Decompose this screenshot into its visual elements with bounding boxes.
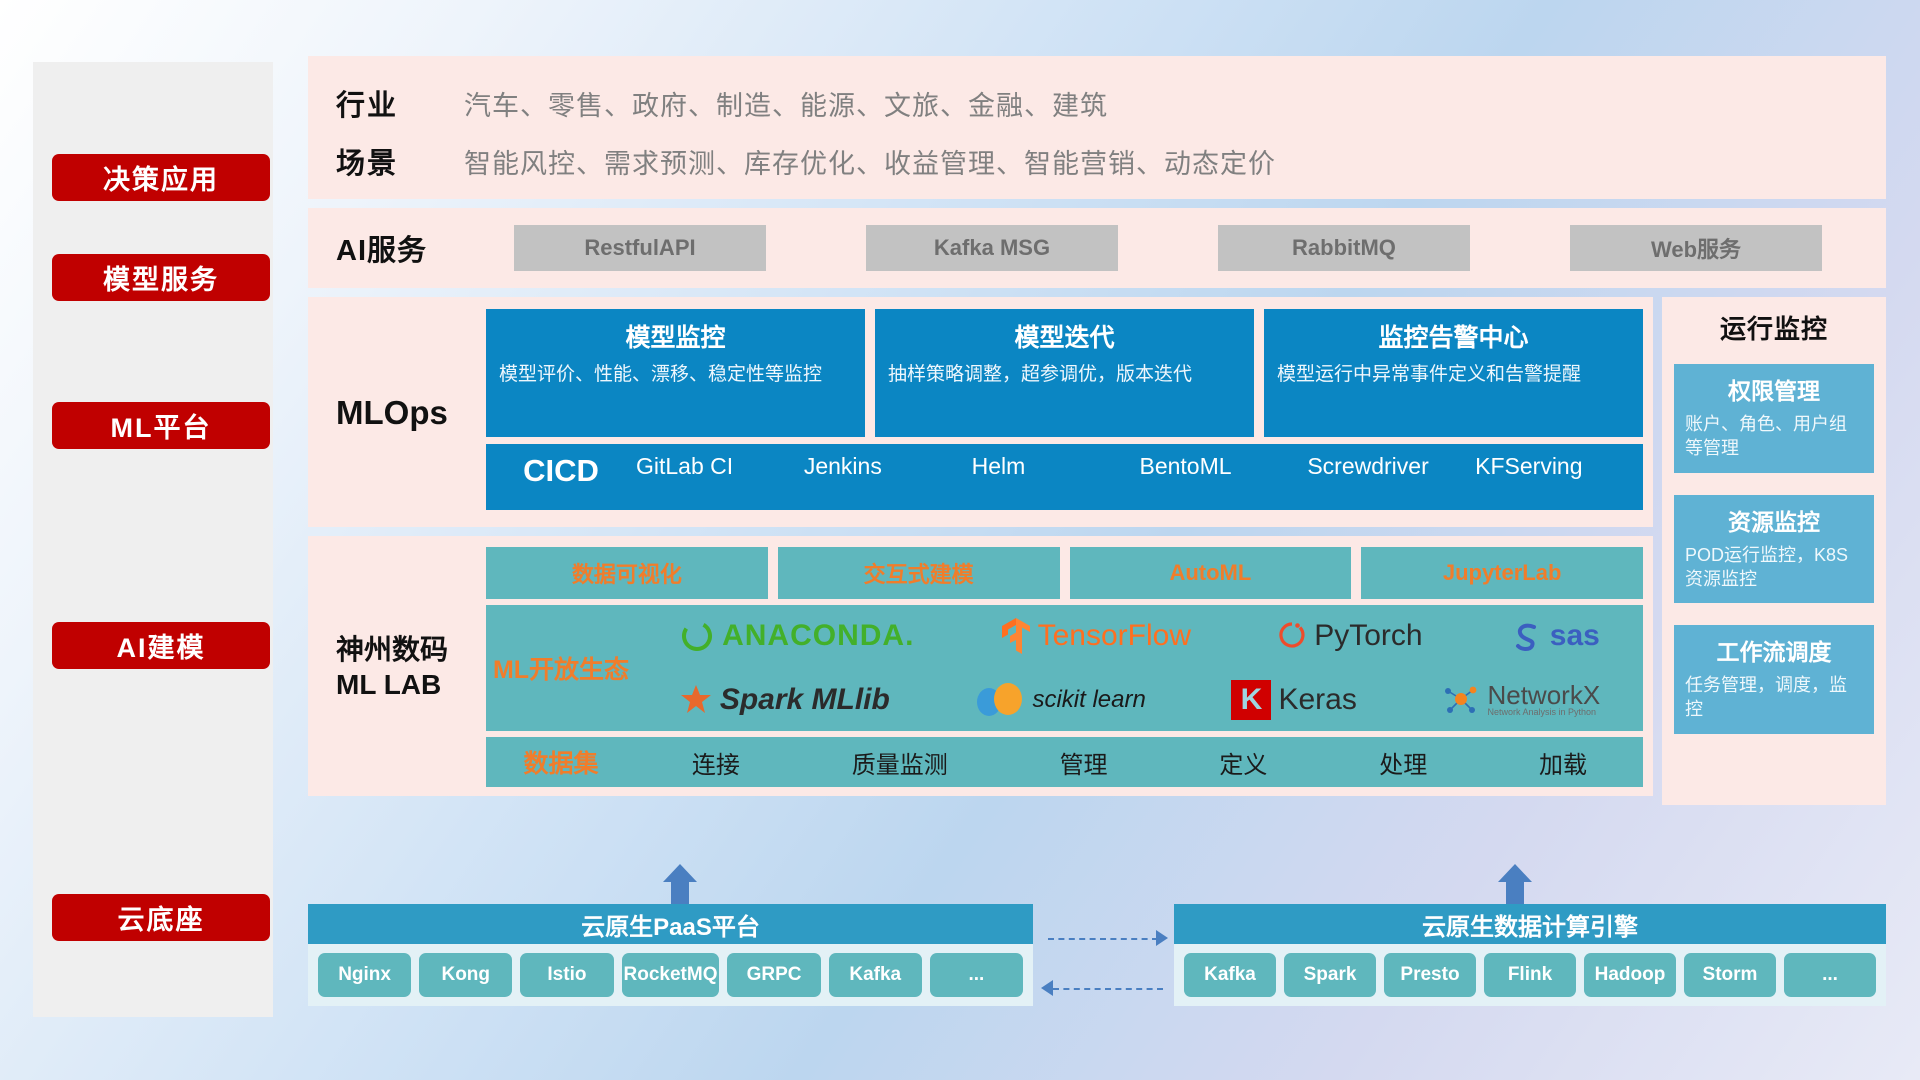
paas-up-arrow-icon — [663, 864, 697, 908]
dataset-item-load[interactable]: 加载 — [1539, 745, 1587, 780]
rail-item-label: 决策应用 — [103, 158, 219, 197]
cloud-chip-rocketmq[interactable]: RocketMQ — [622, 953, 720, 997]
left-stack-rail: 决策应用 模型服务 ML平台 AI建模 云底座 — [33, 62, 273, 1017]
ml-lab-band: 神州数码 ML LAB 数据可视化 交互式建模 AutoML — [308, 536, 1653, 796]
anaconda-label: ANACONDA. — [722, 619, 914, 653]
scikit-learn-label: scikit learn — [1032, 686, 1145, 714]
architecture-main-column: 行业 汽车、零售、政府、制造、能源、文旅、金融、建筑 场景 智能风控、需求预测、… — [308, 56, 1886, 805]
mlops-card-title: 模型监控 — [499, 318, 852, 354]
networkx-logo: NetworkX Network Analysis in Python — [1442, 682, 1600, 717]
rail-item-cloud-base[interactable]: 云底座 — [52, 894, 270, 941]
dataset-label: 数据集 — [486, 744, 636, 780]
dataset-item-quality-monitor[interactable]: 质量监测 — [852, 745, 948, 780]
cloud-chip-kafka[interactable]: Kafka — [1184, 953, 1276, 997]
monitor-card-title: 权限管理 — [1685, 372, 1863, 406]
mlops-card-list: 模型监控 模型评价、性能、漂移、稳定性等监控 模型迭代 抽样策略调整，超参调优，… — [486, 309, 1643, 437]
cloud-chip-spark[interactable]: Spark — [1284, 953, 1376, 997]
ai-service-chip-list: RestfulAPI Kafka MSG RabbitMQ Web服务 — [464, 225, 1886, 271]
mlops-card-title: 监控告警中心 — [1277, 318, 1630, 354]
cloud-group-data-engine-title: 云原生数据计算引擎 — [1174, 904, 1886, 944]
monitor-card-desc: 任务管理，调度，监控 — [1685, 673, 1863, 722]
monitor-card-title: 资源监控 — [1685, 503, 1863, 537]
ai-service-chip-label: RabbitMQ — [1292, 235, 1396, 261]
ai-service-band: AI服务 RestfulAPI Kafka MSG RabbitMQ Web服务 — [308, 208, 1886, 288]
ecosystem-logo-row-1: ANACONDA. TensorFlow — [636, 606, 1643, 666]
cloud-chip-storm[interactable]: Storm — [1684, 953, 1776, 997]
ai-service-chip-rabbitmq[interactable]: RabbitMQ — [1218, 225, 1470, 271]
ai-service-chip-kafka-msg[interactable]: Kafka MSG — [866, 225, 1118, 271]
monitor-card-desc: 账户、角色、用户组等管理 — [1685, 412, 1863, 461]
cicd-item-gitlab-ci[interactable]: GitLab CI — [636, 453, 804, 479]
scenario-value-label: 智能风控、需求预测、库存优化、收益管理、智能营销、动态定价 — [464, 142, 1276, 181]
ml-lab-label-line2: ML LAB — [336, 667, 486, 702]
lab-tool-automl[interactable]: AutoML — [1070, 547, 1352, 599]
mlops-band: MLOps 模型监控 模型评价、性能、漂移、稳定性等监控 模型迭代 抽样策略调整… — [308, 297, 1653, 527]
rail-item-label: AI建模 — [117, 626, 206, 665]
cicd-item-bentoml[interactable]: BentoML — [1139, 453, 1307, 479]
industry-row: 行业 汽车、零售、政府、制造、能源、文旅、金融、建筑 — [336, 78, 1886, 128]
connector-arrow-right-icon — [1156, 930, 1168, 946]
lab-tool-label: JupyterLab — [1443, 560, 1562, 586]
ml-lab-tool-list: 数据可视化 交互式建模 AutoML JupyterLab — [486, 547, 1643, 599]
dataset-item-manage[interactable]: 管理 — [1060, 745, 1108, 780]
cloud-group-paas-title: 云原生PaaS平台 — [308, 904, 1033, 944]
scikit-learn-icon — [975, 682, 1025, 718]
ml-lab-label: 神州数码 ML LAB — [336, 547, 486, 787]
mlops-card-alert-center[interactable]: 监控告警中心 模型运行中异常事件定义和告警提醒 — [1264, 309, 1643, 437]
cloud-group-paas-chip-list: Nginx Kong Istio RocketMQ GRPC Kafka ... — [308, 944, 1033, 1006]
cicd-item-helm[interactable]: Helm — [972, 453, 1140, 479]
mlops-card-desc: 模型评价、性能、漂移、稳定性等监控 — [499, 362, 852, 388]
cloud-chip-more[interactable]: ... — [1784, 953, 1876, 997]
mlops-card-title: 模型迭代 — [888, 318, 1241, 354]
cloud-group-data-engine: 云原生数据计算引擎 Kafka Spark Presto Flink Hadoo… — [1174, 904, 1886, 1006]
rail-item-model-service[interactable]: 模型服务 — [52, 254, 270, 301]
cloud-chip-presto[interactable]: Presto — [1384, 953, 1476, 997]
anaconda-logo: ANACONDA. — [679, 618, 914, 654]
spark-star-icon — [679, 683, 713, 717]
lab-tool-label: 数据可视化 — [572, 557, 682, 589]
cloud-group-paas: 云原生PaaS平台 Nginx Kong Istio RocketMQ GRPC… — [308, 904, 1033, 1006]
networkx-sublabel: Network Analysis in Python — [1487, 708, 1600, 717]
industry-value-label: 汽车、零售、政府、制造、能源、文旅、金融、建筑 — [464, 84, 1108, 123]
cicd-item-jenkins[interactable]: Jenkins — [804, 453, 972, 479]
pytorch-label: PyTorch — [1314, 619, 1422, 653]
ai-service-chip-label: Kafka MSG — [934, 235, 1050, 261]
keras-label: Keras — [1278, 683, 1356, 717]
cicd-item-screwdriver[interactable]: Screwdriver — [1307, 453, 1475, 479]
rail-item-decision-app[interactable]: 决策应用 — [52, 154, 270, 201]
data-engine-up-arrow-icon — [1498, 864, 1532, 908]
sas-icon — [1509, 619, 1543, 653]
spark-mllib-logo: Spark MLlib — [679, 683, 890, 717]
cloud-chip-flink[interactable]: Flink — [1484, 953, 1576, 997]
scenario-key-label: 场景 — [336, 140, 464, 182]
ml-ecosystem-logo-grid: ANACONDA. TensorFlow — [636, 606, 1643, 730]
scikit-learn-logo: scikit learn — [975, 682, 1145, 718]
ai-service-chip-label: Web服务 — [1651, 232, 1741, 264]
cloud-chip-nginx[interactable]: Nginx — [318, 953, 411, 997]
sas-label: sas — [1550, 619, 1600, 653]
mlops-card-desc: 模型运行中异常事件定义和告警提醒 — [1277, 362, 1630, 388]
mlops-card-model-iteration[interactable]: 模型迭代 抽样策略调整，超参调优，版本迭代 — [875, 309, 1254, 437]
runtime-monitor-panel: 运行监控 权限管理 账户、角色、用户组等管理 资源监控 POD运行监控，K8S资… — [1662, 297, 1886, 805]
dataset-item-list: 连接 质量监测 管理 定义 处理 加载 — [636, 745, 1643, 780]
mlops-label: MLOps — [336, 309, 486, 517]
rail-item-ml-platform[interactable]: ML平台 — [52, 402, 270, 449]
spark-mllib-label: Spark MLlib — [720, 683, 890, 717]
monitor-card-title: 工作流调度 — [1685, 633, 1863, 667]
cloud-chip-more[interactable]: ... — [930, 953, 1023, 997]
cicd-item-kfserving[interactable]: KFServing — [1475, 453, 1643, 479]
rail-item-ai-modeling[interactable]: AI建模 — [52, 622, 270, 669]
lab-tool-label: AutoML — [1169, 560, 1251, 586]
connector-line-bottom — [1053, 988, 1163, 990]
mlops-content: 模型监控 模型评价、性能、漂移、稳定性等监控 模型迭代 抽样策略调整，超参调优，… — [486, 309, 1653, 517]
rail-item-label: ML平台 — [111, 406, 212, 445]
tensorflow-label: TensorFlow — [1038, 619, 1191, 653]
dataset-row: 数据集 连接 质量监测 管理 定义 处理 加载 — [486, 737, 1643, 787]
industry-key-label: 行业 — [336, 82, 464, 124]
sas-logo: sas — [1509, 619, 1600, 653]
ecosystem-logo-row-2: Spark MLlib scikit learn — [636, 670, 1643, 730]
lab-tool-data-visualization[interactable]: 数据可视化 — [486, 547, 768, 599]
tensorflow-icon — [1001, 617, 1031, 655]
runtime-monitor-title: 运行监控 — [1674, 309, 1874, 346]
cicd-bar: CICD GitLab CI Jenkins Helm BentoML Scre… — [486, 444, 1643, 510]
platform-and-monitor-wrapper: MLOps 模型监控 模型评价、性能、漂移、稳定性等监控 模型迭代 抽样策略调整… — [308, 297, 1886, 805]
cicd-item-list: GitLab CI Jenkins Helm BentoML Screwdriv… — [636, 453, 1643, 479]
ai-service-chip-label: RestfulAPI — [584, 235, 695, 261]
ai-service-chip-restfulapi[interactable]: RestfulAPI — [514, 225, 766, 271]
rail-item-label: 云底座 — [118, 898, 205, 937]
rail-item-label: 模型服务 — [103, 258, 219, 297]
ml-lab-content: 数据可视化 交互式建模 AutoML JupyterLab ML — [486, 547, 1653, 787]
networkx-label: NetworkX — [1487, 682, 1600, 708]
cloud-chip-hadoop[interactable]: Hadoop — [1584, 953, 1676, 997]
connector-arrow-left-icon — [1041, 980, 1053, 996]
keras-logo: K Keras — [1231, 680, 1356, 720]
cloud-chip-grpc[interactable]: GRPC — [727, 953, 820, 997]
mlops-card-desc: 抽样策略调整，超参调优，版本迭代 — [888, 362, 1241, 388]
cicd-title: CICD — [486, 453, 636, 489]
mlops-card-model-monitoring[interactable]: 模型监控 模型评价、性能、漂移、稳定性等监控 — [486, 309, 865, 437]
dataset-item-connect[interactable]: 连接 — [692, 745, 740, 780]
ai-service-label: AI服务 — [336, 227, 464, 269]
monitor-card-resource[interactable]: 资源监控 POD运行监控，K8S资源监控 — [1674, 495, 1874, 604]
dataset-item-define[interactable]: 定义 — [1219, 745, 1267, 780]
platform-column: MLOps 模型监控 模型评价、性能、漂移、稳定性等监控 模型迭代 抽样策略调整… — [308, 297, 1653, 805]
industry-scenario-band: 行业 汽车、零售、政府、制造、能源、文旅、金融、建筑 场景 智能风控、需求预测、… — [308, 56, 1886, 199]
ml-ecosystem-label: ML开放生态 — [486, 650, 636, 686]
lab-tool-jupyterlab[interactable]: JupyterLab — [1361, 547, 1643, 599]
tensorflow-logo: TensorFlow — [1001, 617, 1191, 655]
ml-ecosystem-panel: ML开放生态 ANACONDA. — [486, 605, 1643, 731]
anaconda-icon — [679, 618, 715, 654]
networkx-icon — [1442, 683, 1480, 717]
cloud-chip-kafka[interactable]: Kafka — [829, 953, 922, 997]
monitor-card-permission[interactable]: 权限管理 账户、角色、用户组等管理 — [1674, 364, 1874, 473]
cloud-chip-kong[interactable]: Kong — [419, 953, 512, 997]
lab-tool-interactive-modeling[interactable]: 交互式建模 — [778, 547, 1060, 599]
scenario-row: 场景 智能风控、需求预测、库存优化、收益管理、智能营销、动态定价 — [336, 136, 1886, 186]
pytorch-icon — [1277, 619, 1307, 653]
dataset-item-process[interactable]: 处理 — [1379, 745, 1427, 780]
cloud-group-data-engine-chip-list: Kafka Spark Presto Flink Hadoop Storm ..… — [1174, 944, 1886, 1006]
monitor-card-desc: POD运行监控，K8S资源监控 — [1685, 543, 1863, 592]
cloud-chip-istio[interactable]: Istio — [520, 953, 613, 997]
connector-line-top — [1048, 938, 1158, 940]
cloud-base-section: 云原生PaaS平台 Nginx Kong Istio RocketMQ GRPC… — [308, 880, 1886, 1040]
lab-tool-label: 交互式建模 — [864, 557, 974, 589]
keras-icon: K — [1231, 680, 1271, 720]
pytorch-logo: PyTorch — [1277, 619, 1422, 653]
monitor-card-workflow[interactable]: 工作流调度 任务管理，调度，监控 — [1674, 625, 1874, 734]
ai-service-chip-web-service[interactable]: Web服务 — [1570, 225, 1822, 271]
ml-lab-label-line1: 神州数码 — [336, 632, 486, 667]
